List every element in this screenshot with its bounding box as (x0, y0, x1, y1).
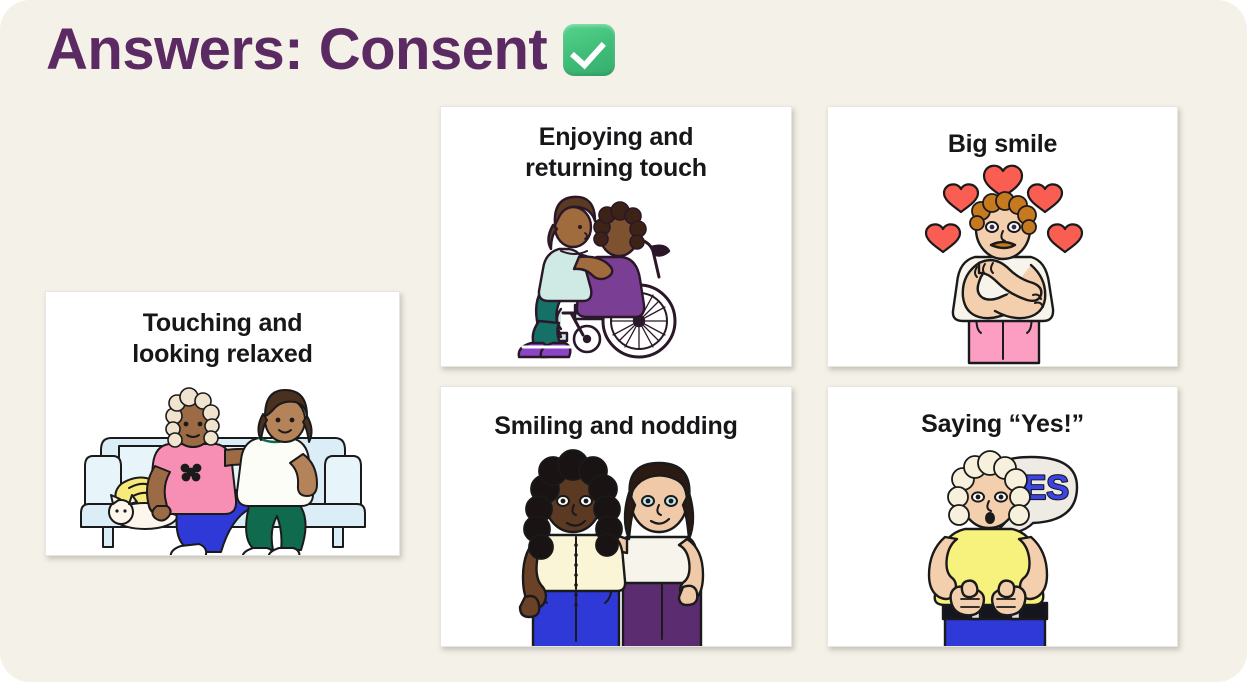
answer-card-enjoying[interactable]: Enjoying and returning touch (440, 106, 792, 367)
answer-card-smiling[interactable]: Smiling and nodding (440, 386, 792, 647)
answer-card-label: Enjoying and returning touch (441, 122, 791, 183)
answer-card-label: Saying “Yes!” (828, 409, 1177, 440)
page-title-text: Answers: Consent (46, 20, 547, 81)
answer-card-bigsmile[interactable]: Big smile (827, 106, 1178, 367)
answer-card-label: Big smile (828, 129, 1177, 160)
answer-card-label-line2: looking relaxed (132, 340, 312, 368)
illustration-sofa-couple-with-cat (46, 380, 399, 555)
answer-card-label: Touching and looking relaxed (46, 308, 399, 369)
answer-card-yes[interactable]: Saying “Yes!” YES (827, 386, 1178, 647)
answer-card-label-line1: Big smile (948, 130, 1057, 158)
illustration-person-saying-yes: YES (828, 439, 1177, 647)
answer-card-label: Smiling and nodding (441, 411, 791, 442)
answer-card-label-line1: Enjoying and (539, 123, 694, 151)
answer-card-label-line1: Saying “Yes!” (921, 410, 1084, 438)
slide-canvas: Answers: Consent Touching and looking re… (0, 0, 1247, 682)
illustration-two-friends-arms-around (441, 445, 791, 647)
answer-card-label-line1: Smiling and nodding (494, 412, 737, 440)
answer-card-label-line2: returning touch (525, 154, 707, 182)
answer-card-touching[interactable]: Touching and looking relaxed (45, 291, 400, 556)
white-check-mark-icon (563, 24, 615, 76)
answer-card-label-line1: Touching and (143, 309, 303, 337)
page-title: Answers: Consent (46, 20, 615, 81)
illustration-person-with-hearts (828, 163, 1177, 367)
illustration-wheelchair-hug (441, 187, 791, 367)
